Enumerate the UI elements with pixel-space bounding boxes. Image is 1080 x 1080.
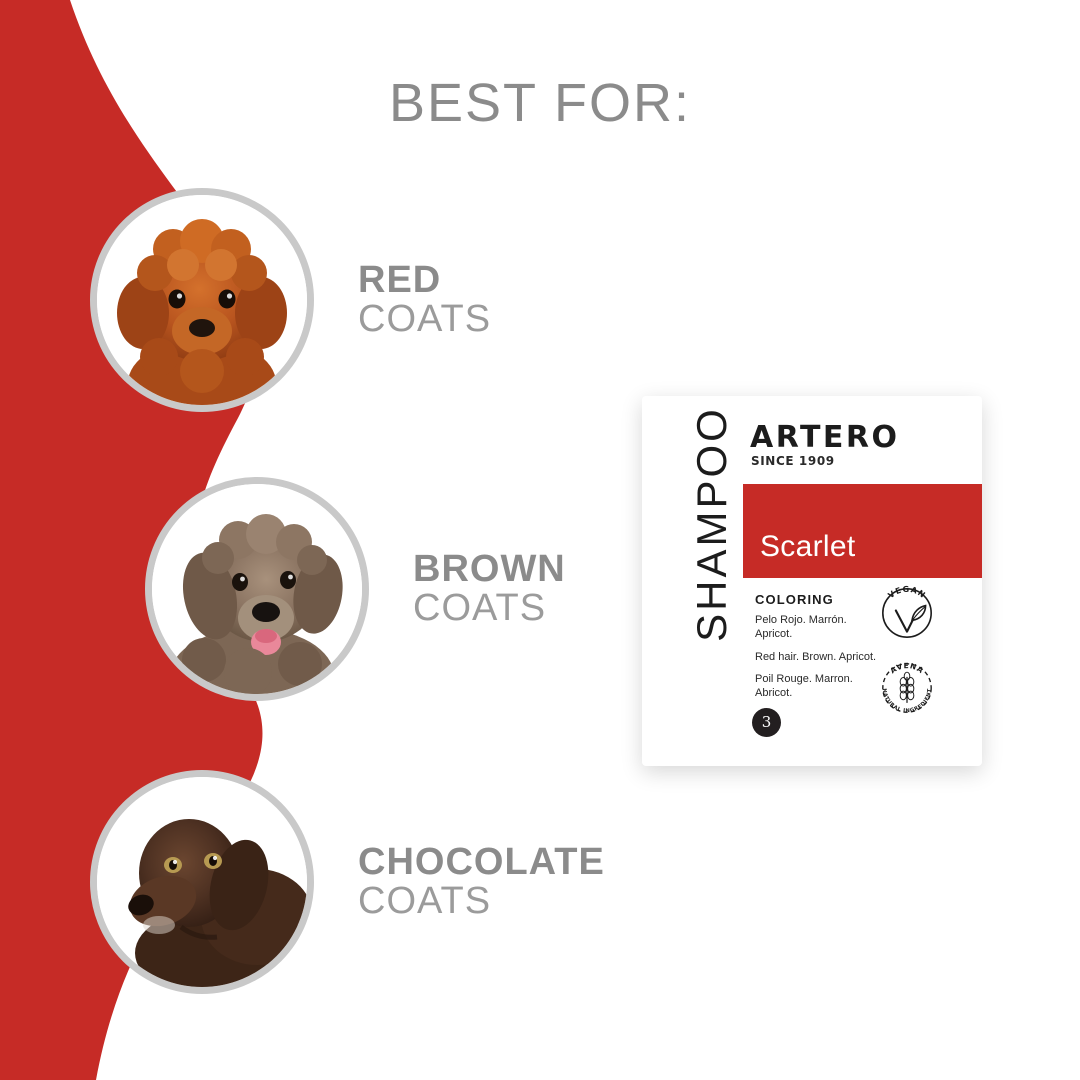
- red-poodle-puppy-photo: [90, 188, 314, 412]
- product-category-label: SHAMPOO: [688, 396, 736, 654]
- description-es: Pelo Rojo. Marrón. Apricot.: [755, 614, 885, 642]
- natural-ingredient-badge: AVENA NATURAL INGREDIENT: [876, 657, 938, 719]
- section-title-coloring: COLORING: [755, 592, 834, 607]
- vegan-badge: VEGAN: [876, 582, 938, 644]
- description-fr: Poil Rouge. Marron. Abricot.: [755, 673, 885, 701]
- coat-item-brown: BROWN COATS: [145, 477, 566, 701]
- coat-kind-label: BROWN: [413, 550, 566, 589]
- product-description-list: Pelo Rojo. Marrón. Apricot. Red hair. Br…: [755, 614, 885, 710]
- page-title: BEST FOR:: [0, 72, 1080, 134]
- certification-badges: VEGAN AVENA NATURAL INGREDIENT: [876, 582, 938, 732]
- coat-item-red: RED COATS: [90, 188, 491, 412]
- coat-coats-label: COATS: [358, 882, 605, 921]
- coat-label-chocolate: CHOCOLATE COATS: [358, 843, 605, 921]
- size-indicator-value: 3: [762, 715, 772, 730]
- coat-coats-label: COATS: [358, 300, 491, 339]
- coat-label-red: RED COATS: [358, 261, 491, 339]
- coat-label-brown: BROWN COATS: [413, 550, 566, 628]
- product-label-card[interactable]: SHAMPOO ARTERO SINCE 1909 Scarlet COLORI…: [642, 396, 982, 766]
- size-indicator-badge: 3: [752, 708, 781, 737]
- coat-kind-label: CHOCOLATE: [358, 843, 605, 882]
- coat-coats-label: COATS: [413, 589, 566, 628]
- svg-text:VEGAN: VEGAN: [886, 585, 927, 600]
- description-en: Red hair. Brown. Apricot.: [755, 651, 885, 665]
- coat-item-chocolate: CHOCOLATE COATS: [90, 770, 605, 994]
- chocolate-labrador-photo: [90, 770, 314, 994]
- brown-doodle-dog-photo: [145, 477, 369, 701]
- brand-since-text: SINCE 1909: [751, 454, 835, 468]
- svg-text:AVENA: AVENA: [888, 661, 925, 675]
- promo-poster: BEST FOR:: [0, 0, 1080, 1080]
- brand-logo-text: ARTERO: [750, 420, 900, 455]
- variant-name: Scarlet: [760, 530, 855, 564]
- coat-kind-label: RED: [358, 261, 491, 300]
- variant-color-band: Scarlet: [743, 484, 982, 578]
